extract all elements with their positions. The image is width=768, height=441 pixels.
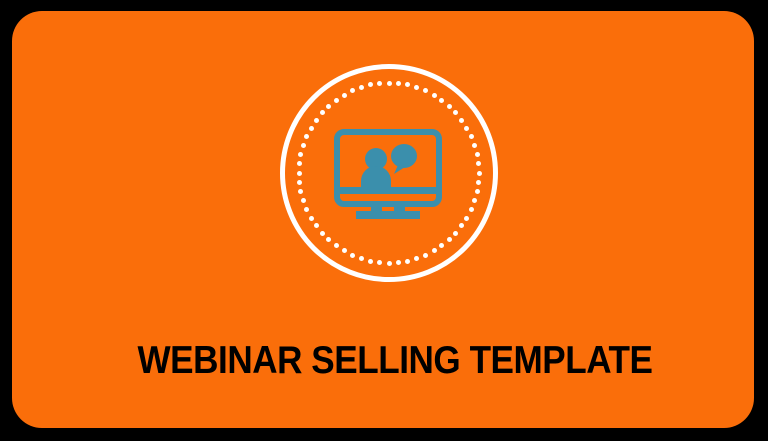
badge-dot bbox=[368, 82, 373, 87]
badge-dot bbox=[423, 88, 428, 93]
badge-dot bbox=[472, 143, 477, 148]
badge-dot bbox=[476, 180, 481, 185]
badge-dot bbox=[309, 126, 314, 131]
badge-dot bbox=[298, 152, 303, 157]
badge-dot bbox=[334, 243, 339, 248]
badge-dot bbox=[472, 198, 477, 203]
speech-bubble-icon bbox=[391, 144, 417, 168]
badge-dot bbox=[453, 231, 458, 236]
badge-dot bbox=[459, 223, 464, 228]
badge-dot bbox=[301, 198, 306, 203]
badge-dot bbox=[453, 110, 458, 115]
badge-dot bbox=[432, 248, 437, 253]
badge-dot bbox=[405, 82, 410, 87]
screenshot-canvas: WEBINAR SELLING TEMPLATE bbox=[0, 0, 768, 441]
badge-dot bbox=[396, 81, 401, 86]
badge-dot bbox=[350, 253, 355, 258]
badge-dot bbox=[477, 171, 482, 176]
badge-dot bbox=[377, 81, 382, 86]
monitor-bezel-band bbox=[340, 187, 436, 194]
badge-dot bbox=[447, 237, 452, 242]
badge-dot bbox=[439, 243, 444, 248]
badge-dot bbox=[359, 256, 364, 261]
badge-dot bbox=[304, 134, 309, 139]
badge-dot bbox=[334, 98, 339, 103]
badge-dot bbox=[350, 88, 355, 93]
badge-dot bbox=[469, 207, 474, 212]
badge-dot bbox=[342, 248, 347, 253]
badge-dot bbox=[309, 216, 314, 221]
badge-dot bbox=[475, 189, 480, 194]
badge-dot bbox=[423, 253, 428, 258]
badge-dot bbox=[475, 152, 480, 157]
badge-dot bbox=[368, 259, 373, 264]
badge-dot bbox=[297, 171, 302, 176]
badge-dot bbox=[464, 126, 469, 131]
person-body-icon bbox=[361, 166, 391, 187]
badge-dot bbox=[405, 259, 410, 264]
badge-dot bbox=[396, 260, 401, 265]
webinar-monitor-icon bbox=[334, 129, 442, 221]
badge-dot bbox=[414, 256, 419, 261]
badge-dot bbox=[314, 118, 319, 123]
page-title: WEBINAR SELLING TEMPLATE bbox=[61, 339, 729, 383]
monitor-stand-left-leg bbox=[371, 204, 382, 212]
badge-dot bbox=[459, 118, 464, 123]
badge-dot bbox=[469, 134, 474, 139]
badge-dot bbox=[464, 216, 469, 221]
badge-dot bbox=[320, 110, 325, 115]
badge-dot bbox=[387, 81, 392, 86]
badge-dot bbox=[297, 161, 302, 166]
badge-dot bbox=[326, 237, 331, 242]
badge-dot bbox=[476, 161, 481, 166]
badge-dot bbox=[414, 85, 419, 90]
monitor-stand-right-leg bbox=[394, 204, 405, 212]
badge-dot bbox=[326, 104, 331, 109]
badge-dot bbox=[447, 104, 452, 109]
badge-dot bbox=[432, 93, 437, 98]
badge-dot bbox=[298, 189, 303, 194]
badge-dot bbox=[320, 231, 325, 236]
badge-dot bbox=[314, 223, 319, 228]
badge-dot bbox=[439, 98, 444, 103]
badge-dot bbox=[377, 260, 382, 265]
monitor-base-bar bbox=[356, 211, 420, 219]
badge-dot bbox=[304, 207, 309, 212]
badge-dot bbox=[297, 180, 302, 185]
webinar-template-card: WEBINAR SELLING TEMPLATE bbox=[12, 11, 754, 428]
badge-dot bbox=[301, 143, 306, 148]
badge-dot bbox=[342, 93, 347, 98]
badge-dot bbox=[387, 261, 392, 266]
badge-dot bbox=[359, 85, 364, 90]
